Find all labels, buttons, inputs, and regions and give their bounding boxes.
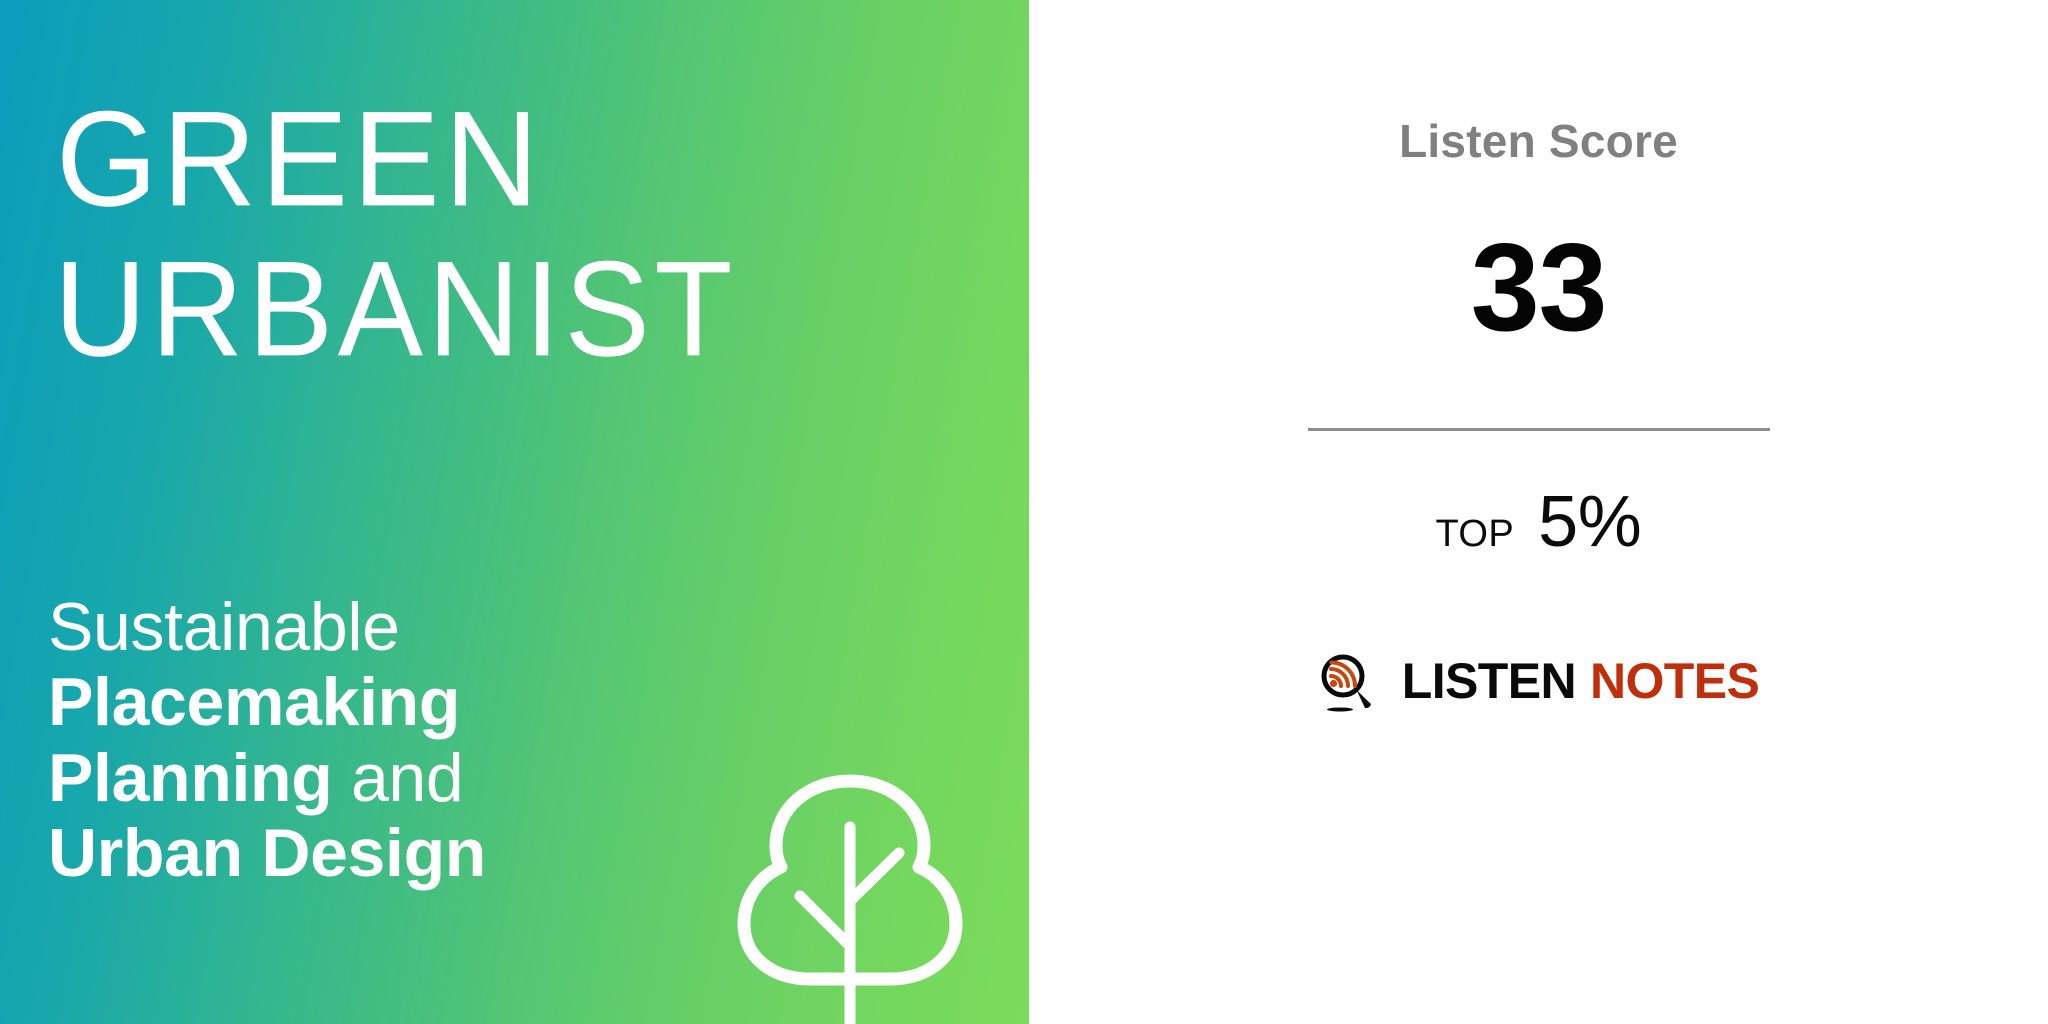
top-rank-row: TOP 5% xyxy=(1436,486,1642,558)
listen-notes-word-listen: LISTEN xyxy=(1402,653,1576,709)
tagline-line-3-bold: Planning xyxy=(48,740,332,816)
brand-wordmark-line-2: URBANIST xyxy=(54,242,737,378)
listen-notes-magnifier-icon xyxy=(1318,652,1380,714)
listen-score-label: Listen Score xyxy=(1399,118,1678,164)
top-rank-value: 5% xyxy=(1538,486,1641,558)
top-rank-prefix: TOP xyxy=(1436,515,1515,553)
listen-notes-logo[interactable]: LISTENNOTES xyxy=(1318,650,1759,712)
tagline-line-3: Planning and xyxy=(48,741,486,816)
tagline-line-4: Urban Design xyxy=(48,816,486,891)
brand-wordmark-line-1: GREEN xyxy=(56,92,543,228)
listen-score-panel: Listen Score 33 TOP 5% LISTENNOTES xyxy=(1029,0,2048,1024)
artwork-gradient-background: GREEN URBANIST Sustainable Placemaking P… xyxy=(0,0,1029,1024)
podcast-cover-art[interactable]: GREEN URBANIST Sustainable Placemaking P… xyxy=(0,0,1029,1024)
listen-score-value: 33 xyxy=(1471,226,1606,350)
tagline-line-3-light: and xyxy=(332,740,463,816)
tagline-line-2: Placemaking xyxy=(48,665,486,740)
artwork-tagline: Sustainable Placemaking Planning and Urb… xyxy=(48,590,486,892)
listen-score-card: GREEN URBANIST Sustainable Placemaking P… xyxy=(0,0,2048,1024)
listen-notes-word-notes: NOTES xyxy=(1590,653,1759,709)
section-divider xyxy=(1308,428,1770,431)
tagline-line-1: Sustainable xyxy=(48,590,486,665)
listen-notes-wordmark: LISTENNOTES xyxy=(1402,656,1759,706)
score-stack: Listen Score 33 TOP 5% LISTENNOTES xyxy=(1029,0,2048,712)
tree-icon xyxy=(730,765,970,1024)
